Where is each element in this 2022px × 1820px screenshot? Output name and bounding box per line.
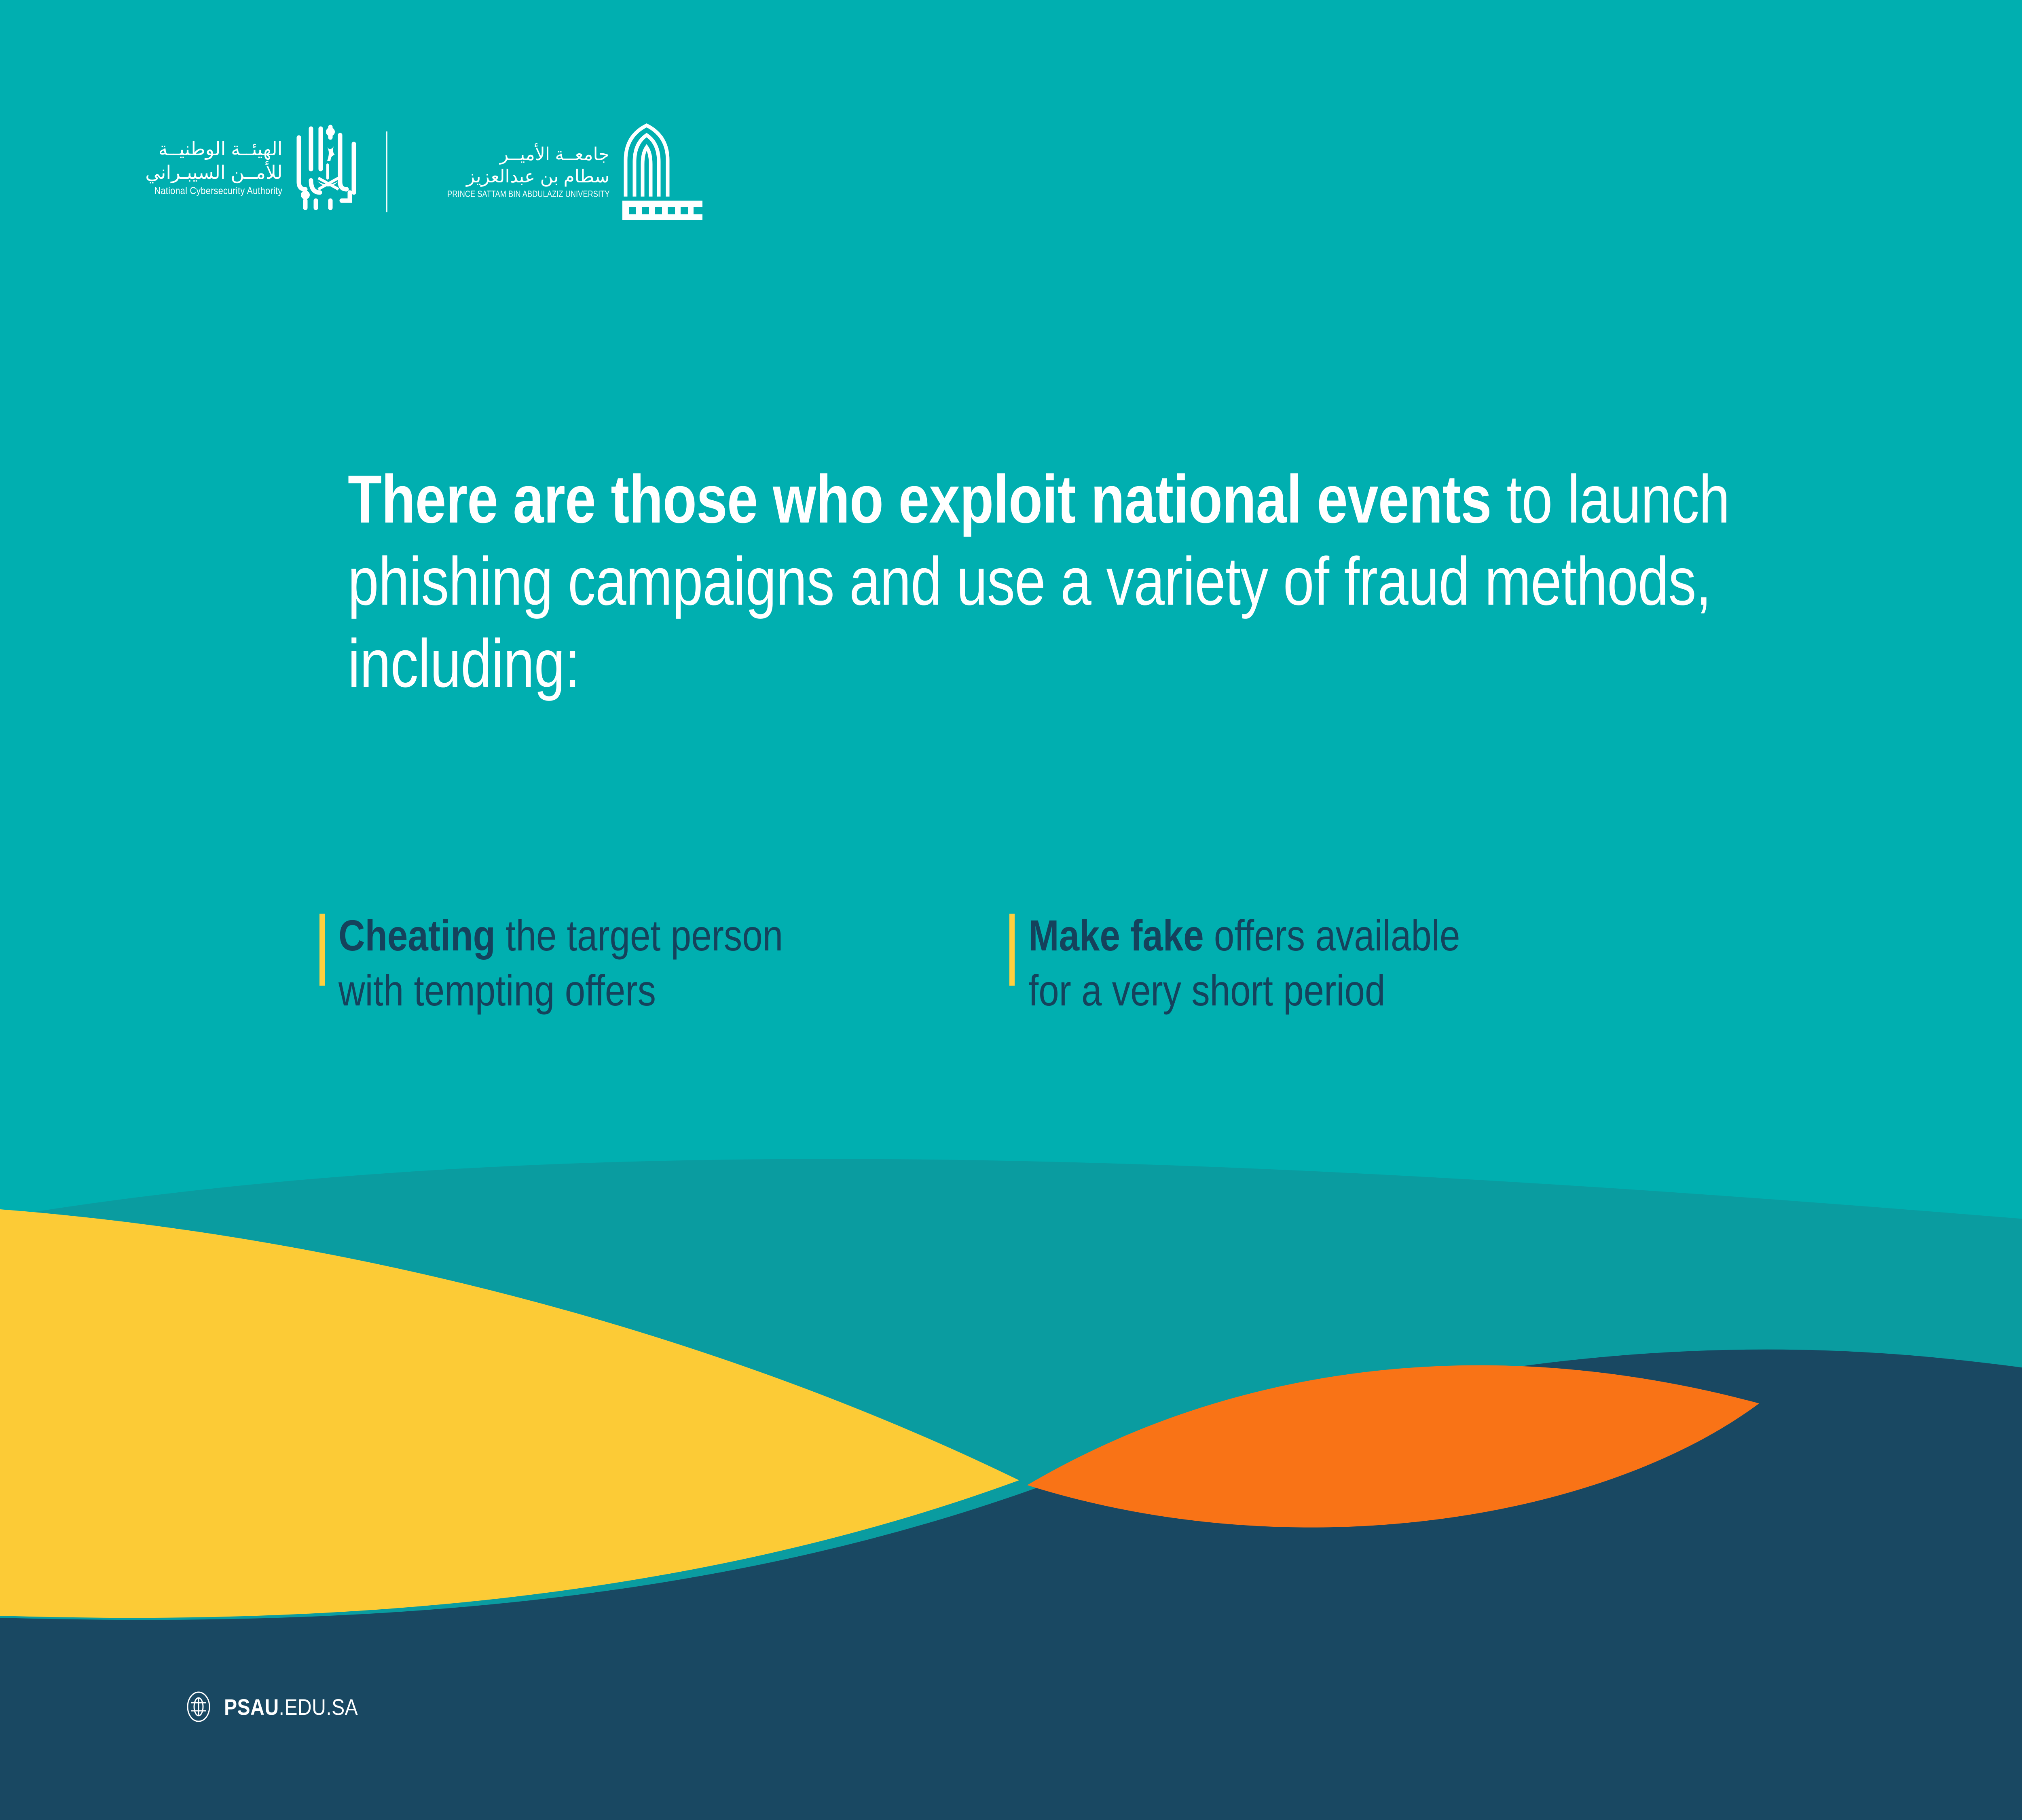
list-item: Make fake offers availablefor a very sho… [1009, 908, 1542, 1018]
psau-logo: جامعــة الأميــر سطام بن عبدالعزيز PRINC… [412, 121, 705, 222]
bullet-accent-bar [319, 914, 325, 986]
logo-lockup: الهيئــة الوطنيــة للأمــن السيبـراني Na… [133, 121, 705, 222]
list-item: Cheating the target personwith tempting … [319, 908, 868, 1018]
psau-arch-emblem-icon [620, 121, 705, 222]
psau-wordmark: جامعــة الأميــر سطام بن عبدالعزيز PRINC… [412, 144, 610, 199]
bullet-bold-1: Cheating [338, 911, 495, 960]
bullet-accent-bar [1009, 914, 1015, 986]
logo-divider [386, 131, 387, 212]
psau-arabic-line-2: سطام بن عبدالعزيز [466, 167, 609, 187]
site-url-tld: .EDU.SA [279, 1694, 358, 1720]
bullet-rest-2: offers available [1203, 911, 1460, 960]
bullet-copy: Cheating the target personwith tempting … [338, 908, 783, 1018]
fraud-methods-list: Cheating the target personwith tempting … [319, 908, 1542, 1018]
headline: There are those who exploit national eve… [348, 458, 1807, 705]
nca-logo: الهيئــة الوطنيــة للأمــن السيبـراني Na… [133, 121, 362, 214]
site-url[interactable]: PSAU.EDU.SA [224, 1694, 358, 1720]
poster-canvas: الهيئــة الوطنيــة للأمــن السيبـراني Na… [0, 0, 2022, 1820]
bullet-rest-1: the target person [495, 911, 783, 960]
site-url-brand: PSAU [224, 1694, 279, 1720]
bullet-line2-1: with tempting offers [338, 966, 656, 1015]
psau-arabic-line-1: جامعــة الأميــر [500, 144, 609, 165]
headline-bold: There are those who exploit national eve… [348, 461, 1491, 537]
nca-english-name: National Cybersecurity Authority [154, 185, 283, 197]
psau-english-name: PRINCE SATTAM BIN ABDULAZIZ UNIVERSITY [447, 189, 610, 199]
nca-arabic-line-1: الهيئــة الوطنيــة [159, 139, 283, 160]
globe-icon [186, 1691, 211, 1723]
nca-emblem-icon [293, 121, 362, 214]
bullet-bold-2: Make fake [1028, 911, 1204, 960]
bullet-line2-2: for a very short period [1028, 966, 1385, 1015]
nca-wordmark: الهيئــة الوطنيــة للأمــن السيبـراني Na… [133, 139, 283, 197]
website-footer[interactable]: PSAU.EDU.SA [186, 1691, 380, 1723]
bullet-copy: Make fake offers availablefor a very sho… [1028, 908, 1460, 1018]
nca-arabic-line-2: للأمــن السيبـراني [145, 162, 282, 183]
